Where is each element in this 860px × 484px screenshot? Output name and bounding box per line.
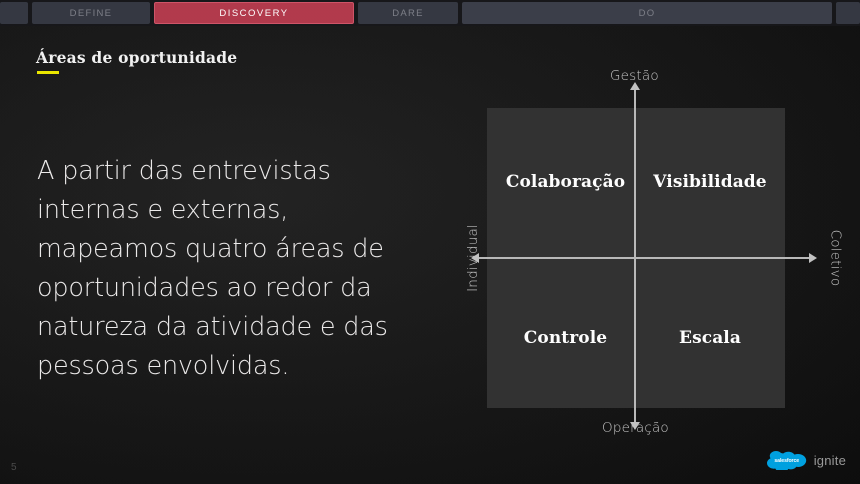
tab-define[interactable]: DEFINE — [32, 2, 150, 24]
axis-label-right: Coletivo — [827, 230, 843, 287]
page-number: 5 — [11, 462, 17, 473]
axis-label-left: Individual — [465, 224, 481, 292]
title-accent-rule — [37, 71, 59, 74]
slide-canvas: DEFINE DISCOVERY DARE DO Áreas de oportu… — [0, 0, 860, 484]
page-title: Áreas de oportunidade — [36, 48, 237, 67]
phase-tab-bar: DEFINE DISCOVERY DARE DO — [0, 0, 860, 26]
salesforce-cloud-icon: salesforce — [766, 451, 808, 470]
quadrant-label-top-left: Colaboração — [498, 172, 633, 192]
tab-discovery[interactable]: DISCOVERY — [154, 2, 354, 24]
arrow-right-icon — [809, 253, 817, 263]
axis-label-bottom: Operação — [602, 420, 669, 436]
quadrant-label-bottom-left: Controle — [498, 328, 633, 348]
salesforce-wordmark: salesforce — [766, 451, 808, 470]
quadrant-label-bottom-right: Escala — [638, 328, 782, 348]
body-paragraph: A partir das entrevistas internas e exte… — [37, 152, 397, 386]
horizontal-axis-line — [478, 257, 812, 259]
salesforce-ignite-logo: salesforce ignite — [766, 451, 846, 470]
axis-label-top: Gestão — [610, 68, 659, 84]
tab-stub-left[interactable] — [0, 2, 28, 24]
tab-do[interactable]: DO — [462, 2, 832, 24]
tab-dare[interactable]: DARE — [358, 2, 458, 24]
opportunity-matrix: Gestão Operação Individual Coletivo Cola… — [455, 78, 835, 438]
tab-stub-right[interactable] — [836, 2, 860, 24]
ignite-wordmark: ignite — [814, 453, 846, 468]
quadrant-label-top-right: Visibilidade — [638, 172, 782, 192]
